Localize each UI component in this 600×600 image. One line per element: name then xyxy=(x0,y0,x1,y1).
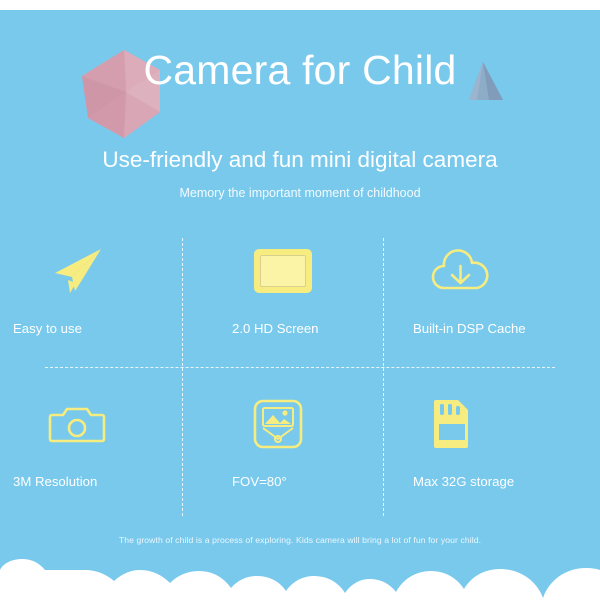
feature-label: Max 32G storage xyxy=(413,474,514,489)
feature-label: Built-in DSP Cache xyxy=(413,321,526,336)
feature-item-storage: Max 32G storage xyxy=(385,385,585,528)
screen-icon xyxy=(252,240,314,302)
feature-item-easy-to-use: Easy to use xyxy=(0,232,200,375)
photo-fov-icon xyxy=(252,393,304,455)
sd-card-icon xyxy=(430,393,474,455)
camera-icon xyxy=(48,393,106,455)
promo-banner: Camera for Child Use-friendly and fun mi… xyxy=(0,0,600,600)
feature-item-resolution: 3M Resolution xyxy=(0,385,200,528)
footer-note: The growth of child is a process of expl… xyxy=(0,535,600,545)
blue-background-panel: Camera for Child Use-friendly and fun mi… xyxy=(0,10,600,600)
feature-label: 3M Resolution xyxy=(13,474,97,489)
feature-item-fov: FOV=80° xyxy=(190,385,390,528)
feature-label: 2.0 HD Screen xyxy=(232,321,319,336)
page-title: Camera for Child xyxy=(0,47,600,94)
feature-label: FOV=80° xyxy=(232,474,287,489)
cloud-decoration xyxy=(0,548,600,600)
feature-label: Easy to use xyxy=(13,321,82,336)
feature-item-dsp-cache: Built-in DSP Cache xyxy=(385,232,585,375)
page-subtitle: Use-friendly and fun mini digital camera xyxy=(0,146,600,173)
cloud-download-icon xyxy=(430,240,492,302)
paper-plane-icon xyxy=(48,240,106,302)
page-tagline: Memory the important moment of childhood xyxy=(0,186,600,201)
feature-grid: Easy to use 2.0 HD Screen xyxy=(0,232,600,518)
feature-item-hd-screen: 2.0 HD Screen xyxy=(190,232,390,375)
